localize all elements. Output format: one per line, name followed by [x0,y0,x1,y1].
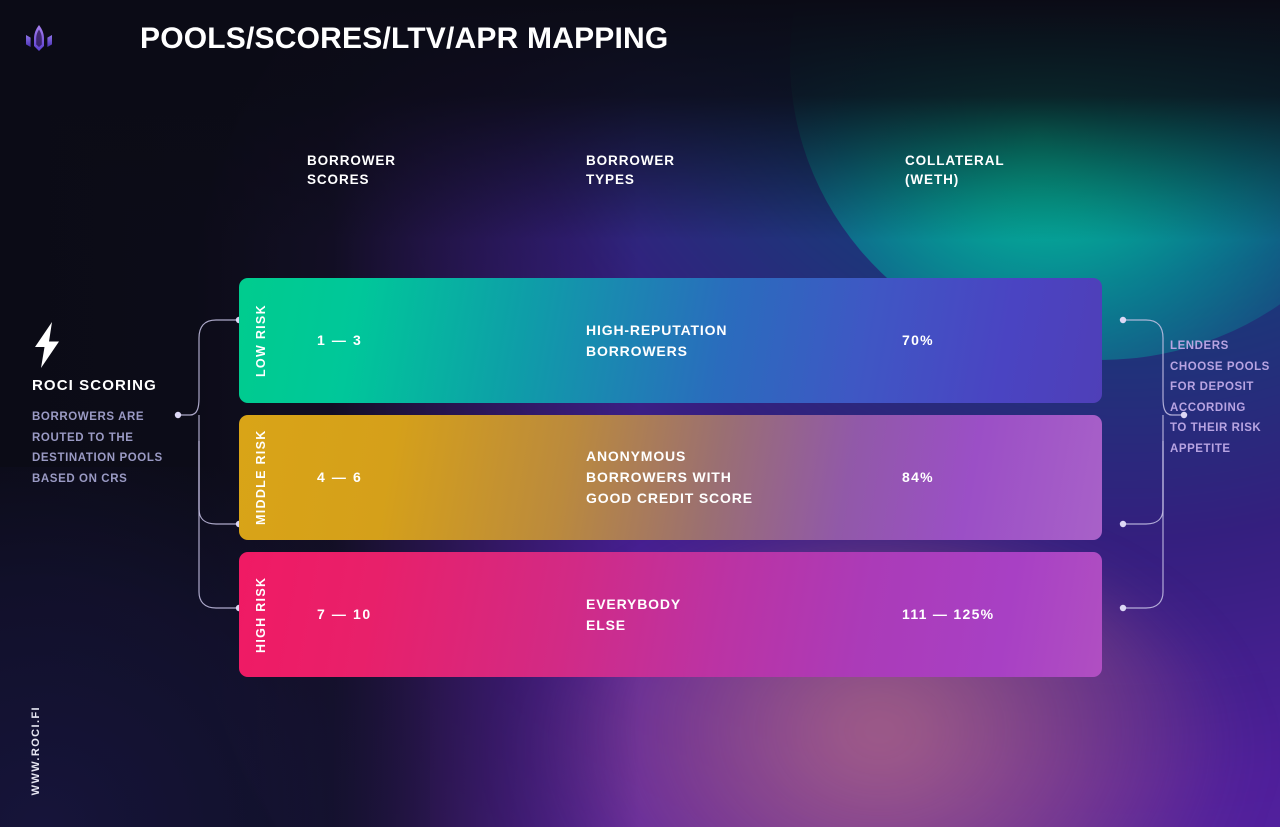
borrower-type-value: HIGH-REPUTATION BORROWERS [586,278,876,403]
table-row[interactable]: MIDDLE RISK 4 — 6 ANONYMOUS BORROWERS WI… [239,415,1102,540]
roci-logo-icon [22,22,56,58]
borrower-score-value: 4 — 6 [317,415,517,540]
lenders-description: LENDERS CHOOSE POOLS FOR DEPOSIT ACCORDI… [1170,336,1280,459]
infographic-canvas: POOLS/SCORES/LTV/APR MAPPING BORROWER SC… [0,0,1280,827]
column-header-borrower-types: BORROWER TYPES [586,151,675,189]
borrower-type-value: EVERYBODY ELSE [586,552,876,677]
table-row[interactable]: HIGH RISK 7 — 10 EVERYBODY ELSE 111 — 12… [239,552,1102,677]
borrower-score-value: 1 — 3 [317,278,517,403]
site-url[interactable]: WWW.ROCI.FI [30,706,42,795]
roci-scoring-panel: ROCI SCORING BORROWERS ARE ROUTED TO THE… [32,322,182,489]
table-row[interactable]: LOW RISK 1 — 3 HIGH-REPUTATION BORROWERS… [239,278,1102,403]
risk-pool-table: LOW RISK 1 — 3 HIGH-REPUTATION BORROWERS… [239,278,1102,677]
risk-tier-label: LOW RISK [254,278,268,403]
borrower-score-value: 7 — 10 [317,552,517,677]
collateral-value: 70% [902,278,1082,403]
roci-scoring-title: ROCI SCORING [32,377,182,394]
collateral-value: 84% [902,415,1082,540]
collateral-value: 111 — 125% [902,552,1082,677]
risk-tier-label: MIDDLE RISK [254,415,268,540]
risk-tier-label: HIGH RISK [254,552,268,677]
column-header-borrower-scores: BORROWER SCORES [307,151,396,189]
lightning-bolt-icon [32,322,62,368]
page-title: POOLS/SCORES/LTV/APR MAPPING [140,22,668,56]
column-header-collateral: COLLATERAL (WETH) [905,151,1005,189]
borrower-type-value: ANONYMOUS BORROWERS WITH GOOD CREDIT SCO… [586,415,876,540]
roci-scoring-description: BORROWERS ARE ROUTED TO THE DESTINATION … [32,407,182,489]
